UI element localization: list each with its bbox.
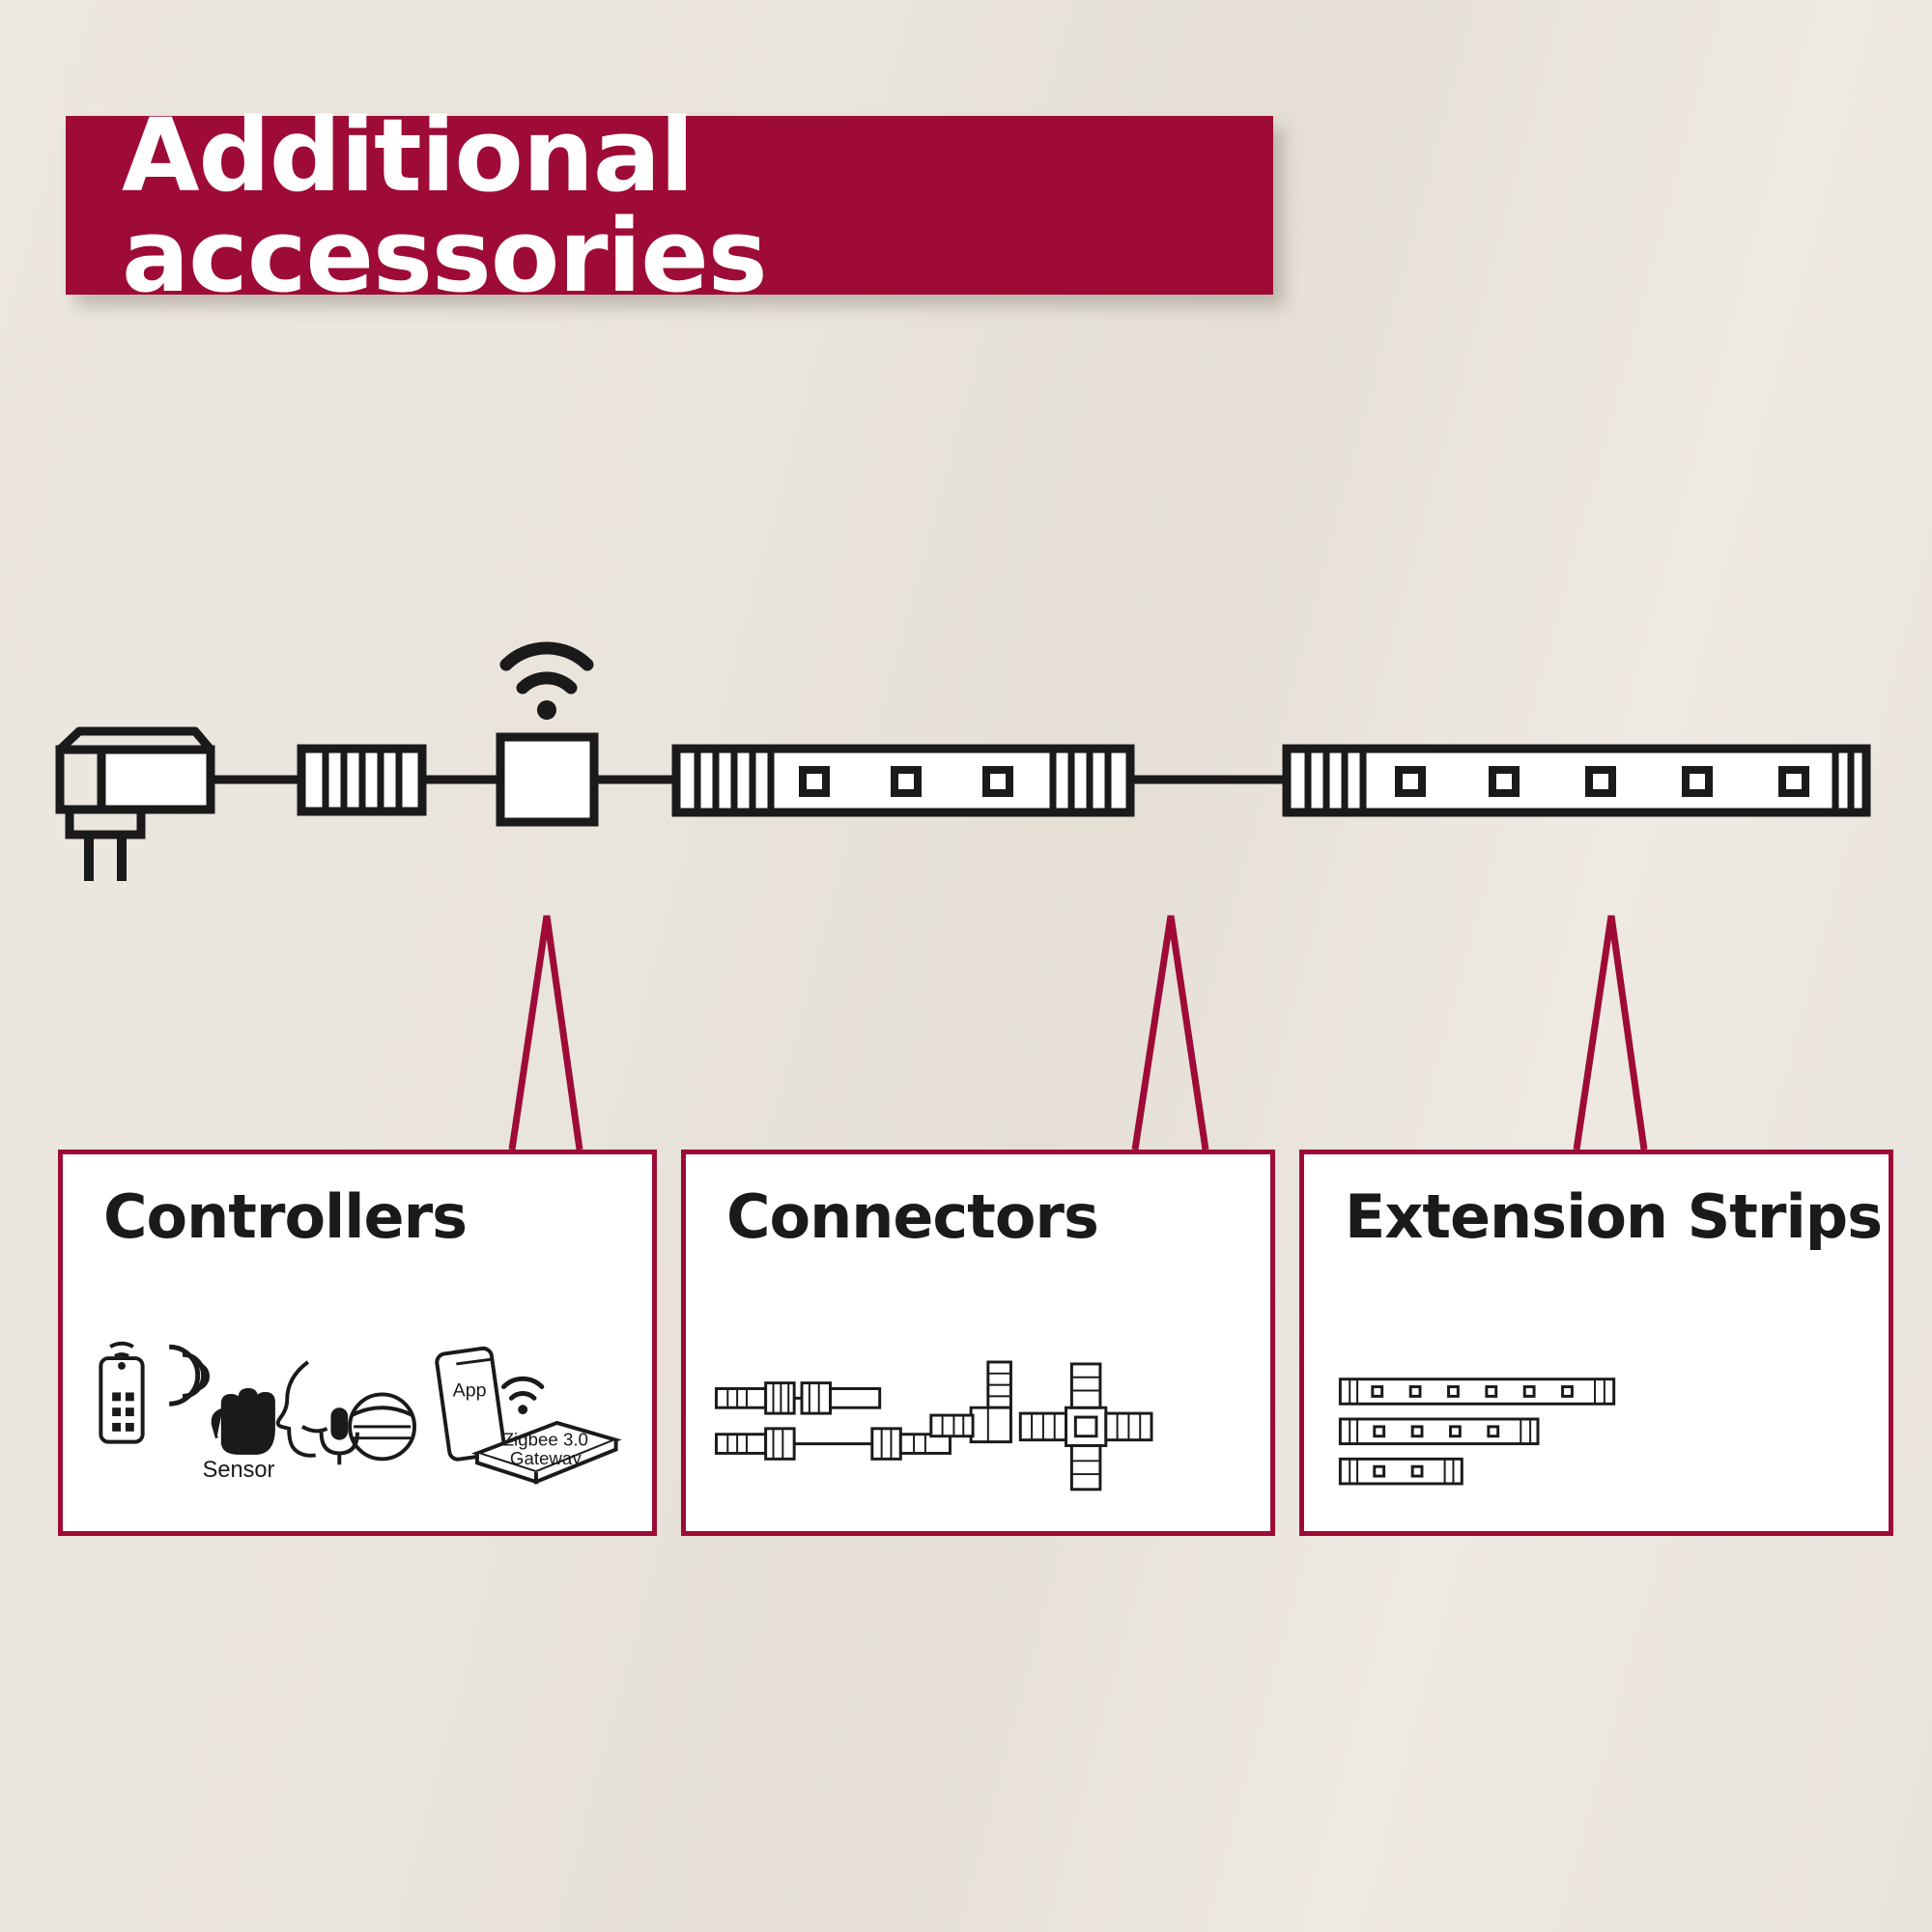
straight-connector-icon	[716, 1383, 950, 1460]
callout-pointer-controllers	[512, 916, 580, 1150]
category-title-extension-strips: Extension Strips	[1345, 1181, 1882, 1252]
power-supply-plug	[60, 731, 211, 881]
extension-strips-icon-group	[1304, 1299, 1889, 1541]
led-strip-segment-2	[1287, 749, 1866, 812]
remote-control-icon	[100, 1344, 142, 1442]
connectors-icon-group	[686, 1299, 1270, 1541]
led-strip-segment-1	[676, 749, 1130, 812]
category-box-extension-strips[interactable]: Extension Strips	[1299, 1150, 1893, 1536]
voice-assistant-icon	[278, 1362, 414, 1464]
wifi-icon	[506, 648, 587, 720]
category-title-controllers: Controllers	[103, 1181, 467, 1252]
smartphone-app-icon	[436, 1348, 505, 1461]
motion-sensor-icon	[169, 1347, 273, 1453]
inline-connector-1	[301, 749, 422, 811]
category-title-connectors: Connectors	[726, 1181, 1098, 1252]
gateway-label-line1: Zigbee 3.0	[503, 1430, 588, 1450]
extension-strip-short-icon	[1340, 1459, 1462, 1484]
cross-connector-icon	[1020, 1364, 1151, 1490]
sensor-label: Sensor	[203, 1458, 275, 1483]
extension-strip-long-icon	[1340, 1379, 1613, 1405]
controller-module	[500, 737, 594, 822]
callout-pointer-connectors	[1135, 916, 1206, 1150]
wifi-small-icon	[504, 1378, 542, 1414]
controllers-icon-group: Sensor App Zigbee 3.0	[63, 1299, 652, 1541]
corner-connector-icon	[931, 1362, 1011, 1442]
gateway-label-line2: Gateway	[510, 1448, 582, 1468]
system-diagram	[0, 0, 1932, 1932]
app-label: App	[453, 1379, 487, 1401]
category-box-connectors[interactable]: Connectors	[681, 1150, 1275, 1536]
category-box-controllers[interactable]: Controllers Sensor	[58, 1150, 657, 1536]
callout-pointer-extension	[1577, 916, 1644, 1150]
extension-strip-medium-icon	[1340, 1419, 1538, 1444]
